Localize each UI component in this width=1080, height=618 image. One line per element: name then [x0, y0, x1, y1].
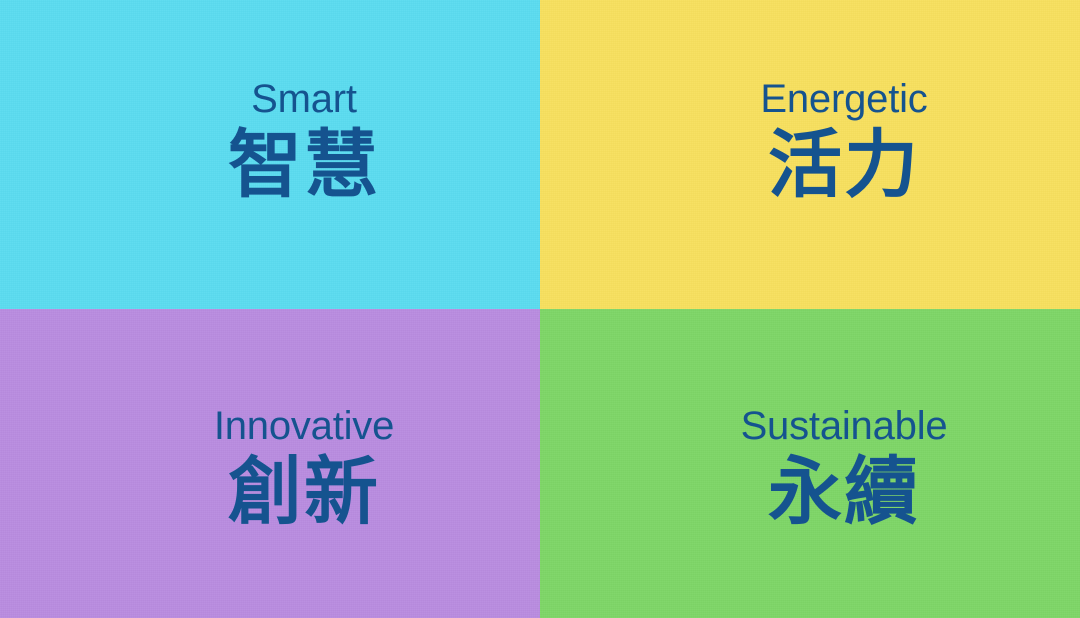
value-card-smart-text-block: Smart 智慧	[228, 78, 380, 207]
value-card-smart: Smart 智慧	[0, 0, 540, 309]
value-card-energetic: Energetic 活力	[540, 0, 1080, 309]
value-card-sustainable-text-block: Sustainable 永續	[741, 405, 948, 534]
value-card-smart-chinese-label: 智慧	[228, 124, 380, 207]
value-card-smart-english-label: Smart	[251, 78, 357, 120]
value-card-sustainable-chinese-label: 永續	[768, 451, 920, 534]
value-card-energetic-text-block: Energetic 活力	[760, 78, 927, 207]
value-card-sustainable: Sustainable 永續	[540, 309, 1080, 618]
value-card-innovative-english-label: Innovative	[214, 405, 394, 447]
brand-values-grid: Smart 智慧 Energetic 活力 Innovative 創新 Sust…	[0, 0, 1080, 618]
value-card-energetic-english-label: Energetic	[760, 78, 927, 120]
value-card-innovative: Innovative 創新	[0, 309, 540, 618]
value-card-sustainable-english-label: Sustainable	[741, 405, 948, 447]
value-card-innovative-text-block: Innovative 創新	[214, 405, 394, 534]
value-card-energetic-chinese-label: 活力	[768, 124, 920, 207]
value-card-innovative-chinese-label: 創新	[228, 451, 380, 534]
